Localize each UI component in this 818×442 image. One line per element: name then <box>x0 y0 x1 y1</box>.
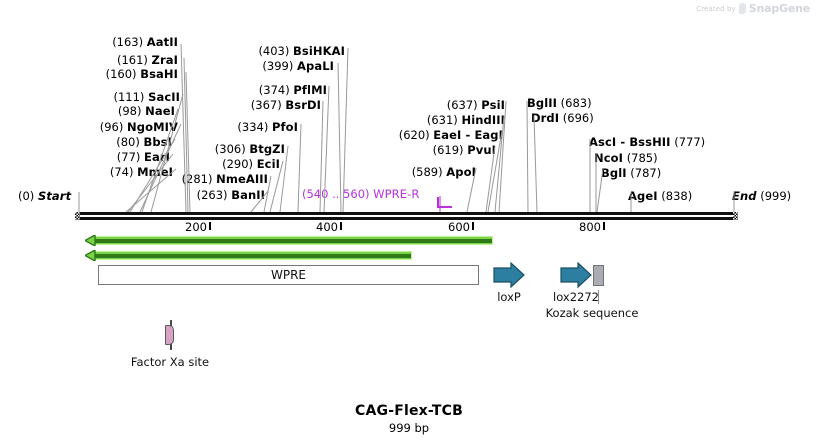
feature-loxp-label: loxP <box>497 290 521 304</box>
ruler-bar-top <box>78 212 735 215</box>
feature-lox2272[interactable] <box>560 262 592 288</box>
feature-kozak-box[interactable] <box>593 265 604 286</box>
ruler-tick-label-400: 400 <box>316 220 340 234</box>
ruler-tick-600 <box>472 222 474 230</box>
ruler-tick-200 <box>209 222 211 230</box>
watermark-prefix: Created by <box>696 5 736 13</box>
arrow-head-left-icon <box>85 250 96 261</box>
feature-lox2272-label: lox2272 <box>553 290 599 304</box>
plasmid-map-canvas: Created by SnapGene (163) AatII (161) Zr… <box>0 0 818 442</box>
page-title: CAG-Flex-TCB <box>0 403 818 419</box>
feature-factor-xa-site[interactable] <box>165 325 174 345</box>
sequence-ruler[interactable] <box>78 212 735 221</box>
arrow-shaft <box>94 251 412 260</box>
ruler-bar-bottom <box>78 217 735 220</box>
feature-loxp[interactable] <box>493 262 525 288</box>
arrow-shaft <box>94 236 493 245</box>
feature-wpre[interactable]: WPRE <box>98 265 479 285</box>
translation-arrow-2[interactable] <box>85 251 412 260</box>
ruler-tick-label-600: 600 <box>448 220 472 234</box>
feature-wpre-label: WPRE <box>271 268 306 282</box>
leader-lines <box>0 44 818 214</box>
watermark-brand: SnapGene <box>749 2 810 15</box>
ruler-tick-label-800: 800 <box>579 220 603 234</box>
ruler-tick-400 <box>340 222 342 230</box>
translation-arrow-1[interactable] <box>85 236 493 245</box>
loxp-arrow-icon <box>493 262 525 288</box>
lox2272-arrow-icon <box>560 262 592 288</box>
ruler-cap-start <box>75 212 80 220</box>
kozak-leader-line <box>598 290 599 304</box>
ruler-cap-end <box>733 212 738 220</box>
snapgene-watermark: Created by SnapGene <box>696 2 810 15</box>
ruler-tick-800 <box>603 222 605 230</box>
feature-kozak-label: Kozak sequence <box>546 306 639 320</box>
snapgene-logo-icon <box>739 3 746 14</box>
arrow-head-left-icon <box>85 235 96 246</box>
plasmid-length: 999 bp <box>0 421 818 435</box>
ruler-tick-label-200: 200 <box>185 220 209 234</box>
feature-factor-xa-label: Factor Xa site <box>131 355 209 369</box>
